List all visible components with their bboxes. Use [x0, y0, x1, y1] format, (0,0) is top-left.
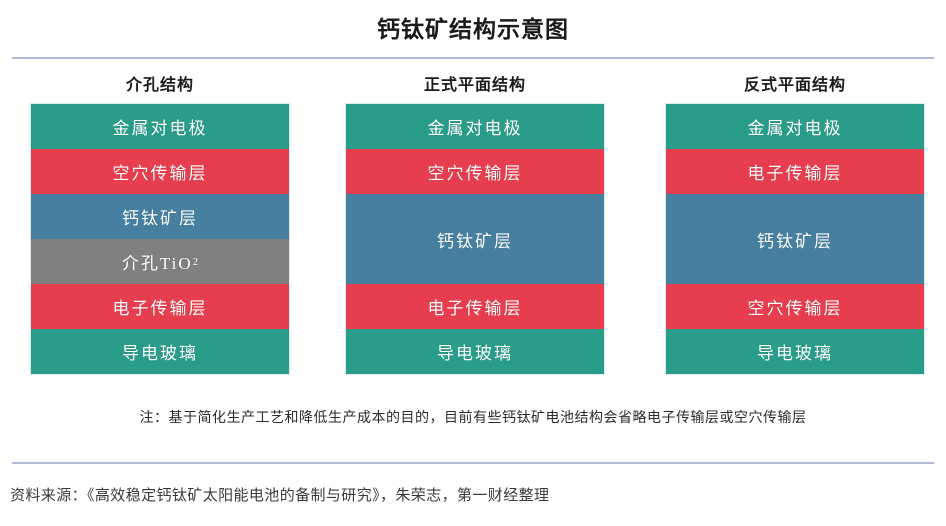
layer-label: 金属对电极 — [113, 114, 208, 139]
layer-metal-electrode: 金属对电极 — [31, 104, 289, 149]
layer-label: 金属对电极 — [428, 114, 523, 139]
layer-label: 空穴传输层 — [428, 159, 523, 184]
layer-label: 钙钛矿层 — [437, 227, 513, 252]
layer-perovskite: 钙钛矿层 — [346, 194, 604, 284]
column-title: 正式平面结构 — [345, 76, 605, 96]
layer-hole-transport: 空穴传输层 — [346, 149, 604, 194]
layer-perovskite: 钙钛矿层 — [666, 194, 924, 284]
layer-metal-electrode: 金属对电极 — [346, 104, 604, 149]
layer-label: 钙钛矿层 — [122, 204, 198, 229]
subscript-2: 2 — [193, 256, 199, 268]
layer-label: 介孔TiO — [122, 249, 193, 274]
layer-label: 金属对电极 — [748, 114, 843, 139]
layer-perovskite: 钙钛矿层 — [31, 194, 289, 239]
layer-electron-transport: 电子传输层 — [31, 284, 289, 329]
layer-mesoporous-tio2: 介孔TiO2 — [31, 239, 289, 284]
diagram-column-regular-planar: 正式平面结构 金属对电极 空穴传输层 钙钛矿层 电子传输层 导电玻璃 — [345, 76, 605, 375]
layer-label: 导电玻璃 — [757, 339, 833, 364]
layer-conductive-glass: 导电玻璃 — [666, 329, 924, 374]
layer-label: 电子传输层 — [113, 294, 208, 319]
diagram-note: 注：基于简化生产工艺和降低生产成本的目的，目前有些钙钛矿电池结构会省略电子传输层… — [0, 407, 946, 427]
layer-label: 空穴传输层 — [113, 159, 208, 184]
layer-label: 导电玻璃 — [437, 339, 513, 364]
layer-label: 钙钛矿层 — [757, 227, 833, 252]
layer-label: 电子传输层 — [428, 294, 523, 319]
layer-label: 导电玻璃 — [122, 339, 198, 364]
diagram-column-inverted-planar: 反式平面结构 金属对电极 电子传输层 钙钛矿层 空穴传输层 导电玻璃 — [665, 76, 925, 375]
layer-electron-transport: 电子传输层 — [346, 284, 604, 329]
layer-stack: 金属对电极 空穴传输层 钙钛矿层 电子传输层 导电玻璃 — [345, 103, 605, 375]
layer-metal-electrode: 金属对电极 — [666, 104, 924, 149]
layer-stack: 金属对电极 空穴传输层 钙钛矿层 介孔TiO2 电子传输层 导电玻璃 — [30, 103, 290, 375]
column-title: 介孔结构 — [30, 76, 290, 96]
layer-label: 电子传输层 — [748, 159, 843, 184]
divider-bottom — [12, 462, 934, 464]
column-title: 反式平面结构 — [665, 76, 925, 96]
layer-label: 空穴传输层 — [748, 294, 843, 319]
page-title: 钙钛矿结构示意图 — [0, 10, 946, 44]
layer-stack: 金属对电极 电子传输层 钙钛矿层 空穴传输层 导电玻璃 — [665, 103, 925, 375]
layer-conductive-glass: 导电玻璃 — [31, 329, 289, 374]
perovskite-structure-diagram: 介孔结构 金属对电极 空穴传输层 钙钛矿层 介孔TiO2 电子传输层 导电玻璃 … — [0, 76, 946, 386]
source-citation: 资料来源：《高效稳定钙钛矿太阳能电池的备制与研究》，朱荣志，第一财经整理 — [10, 484, 549, 505]
diagram-column-mesoporous: 介孔结构 金属对电极 空穴传输层 钙钛矿层 介孔TiO2 电子传输层 导电玻璃 — [30, 76, 290, 375]
layer-hole-transport: 空穴传输层 — [31, 149, 289, 194]
layer-hole-transport: 空穴传输层 — [666, 284, 924, 329]
layer-electron-transport: 电子传输层 — [666, 149, 924, 194]
divider-top — [12, 57, 934, 59]
layer-conductive-glass: 导电玻璃 — [346, 329, 604, 374]
